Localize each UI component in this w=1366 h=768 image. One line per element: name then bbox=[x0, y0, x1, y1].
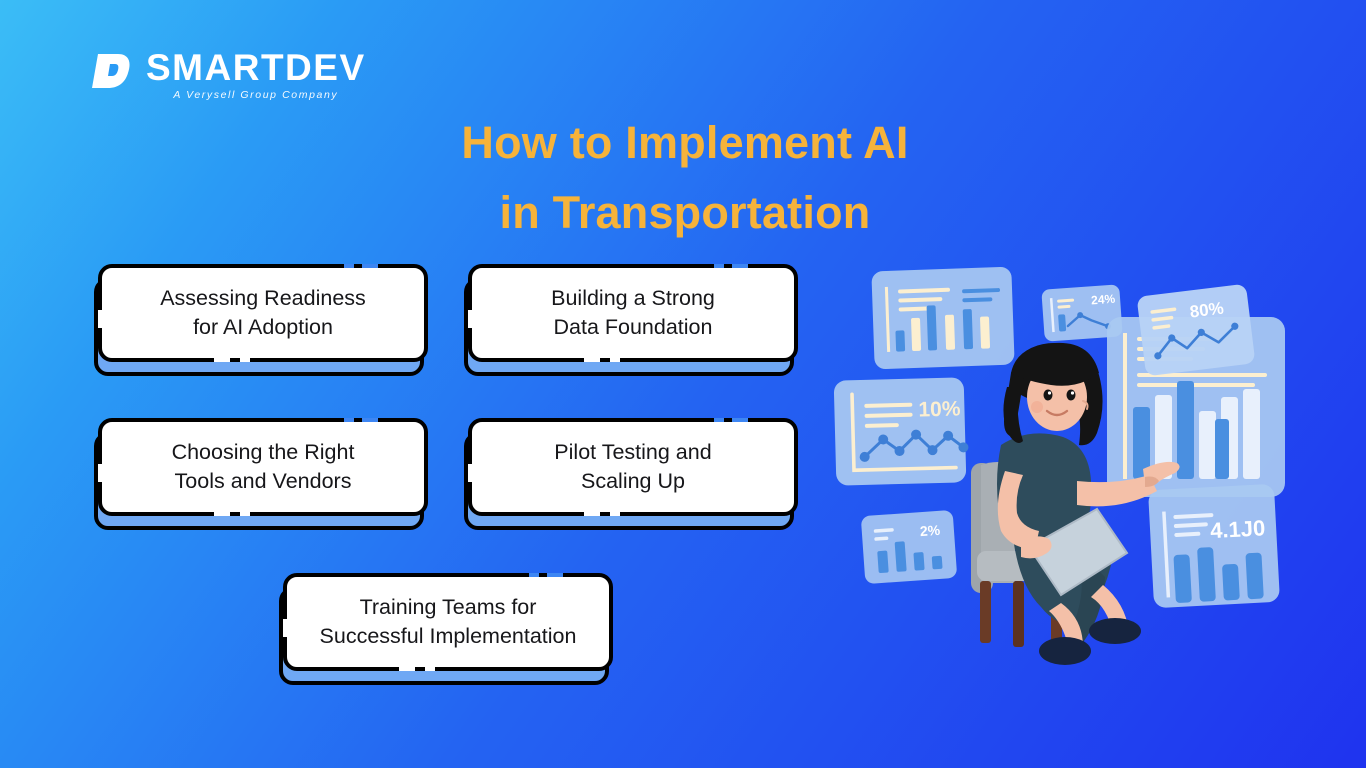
card-border-gap-bottom-2 bbox=[610, 358, 620, 362]
card-border-gap-bottom-2 bbox=[240, 358, 250, 362]
page-title-line-1: How to Implement AI bbox=[300, 108, 1070, 178]
floating-bar-chart-card-2: 2% bbox=[861, 510, 958, 584]
card-line-2: Scaling Up bbox=[581, 469, 685, 493]
floating-card-10-label: 10% bbox=[918, 397, 961, 421]
step-card-2-label: Building a Strong Data Foundation bbox=[551, 284, 715, 341]
card-border-gap-bottom bbox=[214, 358, 230, 362]
card-face: Building a Strong Data Foundation bbox=[468, 264, 798, 362]
step-card-4-label: Pilot Testing and Scaling Up bbox=[554, 438, 711, 495]
card-line-1: Choosing the Right bbox=[172, 440, 355, 464]
card-line-2: for AI Adoption bbox=[193, 315, 333, 339]
card-border-gap-left bbox=[283, 619, 287, 637]
card-line-1: Training Teams for bbox=[360, 595, 537, 619]
step-card-3[interactable]: Choosing the Right Tools and Vendors bbox=[94, 418, 424, 516]
card-face: Assessing Readiness for AI Adoption bbox=[98, 264, 428, 362]
card-face: Pilot Testing and Scaling Up bbox=[468, 418, 798, 516]
card-border-gap-bottom bbox=[584, 358, 600, 362]
step-card-4[interactable]: Pilot Testing and Scaling Up bbox=[464, 418, 794, 516]
card-face: Training Teams for Successful Implementa… bbox=[283, 573, 613, 671]
card-line-1: Pilot Testing and bbox=[554, 440, 711, 464]
card-border-gap-bottom-2 bbox=[425, 667, 435, 671]
step-card-5[interactable]: Training Teams for Successful Implementa… bbox=[279, 573, 609, 671]
floating-bar-chart-card-41j0: 4.1J0 bbox=[1148, 484, 1280, 608]
card-border-gap-bottom bbox=[214, 512, 230, 516]
floating-line-chart-card-10: 10% bbox=[834, 377, 969, 485]
floating-card-2-label: 2% bbox=[919, 522, 941, 539]
card-border-gap-bottom bbox=[584, 512, 600, 516]
card-line-2: Tools and Vendors bbox=[175, 469, 352, 493]
analytics-illustration: 24% 10% bbox=[815, 255, 1315, 705]
floating-bar-chart-card-top bbox=[871, 267, 1014, 370]
floating-card-41j0-label: 4.1J0 bbox=[1210, 515, 1266, 543]
card-border-gap-bottom-2 bbox=[610, 512, 620, 516]
card-face: Choosing the Right Tools and Vendors bbox=[98, 418, 428, 516]
step-card-1-label: Assessing Readiness for AI Adoption bbox=[160, 284, 366, 341]
card-line-2: Data Foundation bbox=[554, 315, 713, 339]
card-border-gap-bottom-2 bbox=[240, 512, 250, 516]
brand-name: SMARTDEV bbox=[146, 48, 366, 88]
smartdev-d-mark-icon bbox=[88, 48, 134, 94]
card-border-gap-left bbox=[98, 464, 102, 482]
floating-card-24-label: 24% bbox=[1091, 292, 1116, 308]
page-title: How to Implement AI in Transportation bbox=[300, 108, 1070, 248]
step-card-5-label: Training Teams for Successful Implementa… bbox=[320, 593, 577, 650]
card-line-1: Building a Strong bbox=[551, 286, 715, 310]
step-card-3-label: Choosing the Right Tools and Vendors bbox=[172, 438, 355, 495]
brand-logo: SMARTDEV A Verysell Group Company bbox=[88, 48, 366, 101]
card-border-gap-left bbox=[468, 310, 472, 328]
brand-tagline: A Verysell Group Company bbox=[173, 89, 338, 101]
card-line-1: Assessing Readiness bbox=[160, 286, 366, 310]
card-border-gap-left bbox=[98, 310, 102, 328]
card-border-gap-left bbox=[468, 464, 472, 482]
step-card-1[interactable]: Assessing Readiness for AI Adoption bbox=[94, 264, 424, 362]
card-border-gap-bottom bbox=[399, 667, 415, 671]
step-card-2[interactable]: Building a Strong Data Foundation bbox=[464, 264, 794, 362]
card-line-2: Successful Implementation bbox=[320, 624, 577, 648]
page-title-line-2: in Transportation bbox=[300, 178, 1070, 248]
floating-line-chart-card-80: 80% bbox=[1137, 284, 1256, 377]
